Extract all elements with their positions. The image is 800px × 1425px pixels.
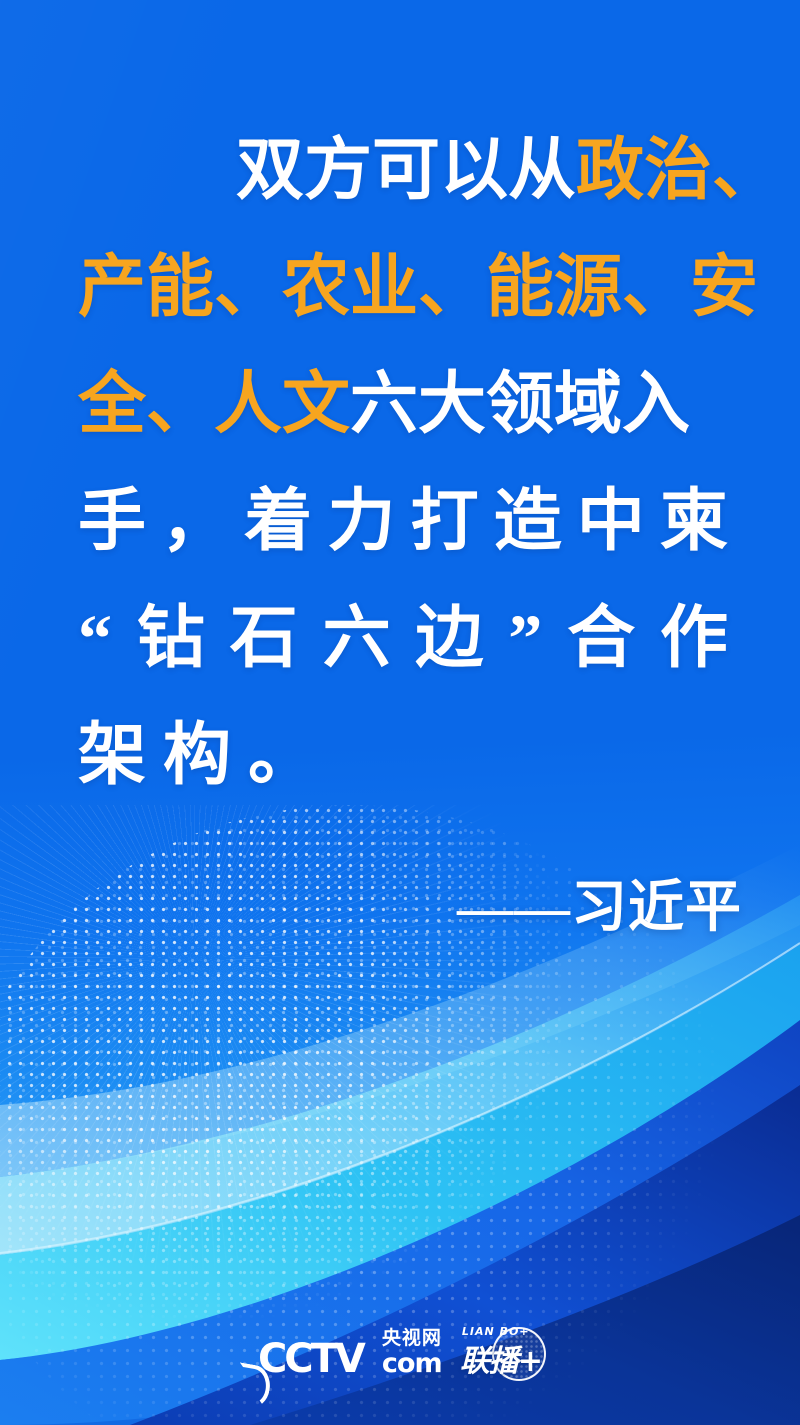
quote-char: 力 — [327, 463, 395, 580]
attribution-line: ——习近平 — [457, 862, 742, 943]
lianbo-logo[interactable]: LIAN BO+ 联播+ — [456, 1327, 542, 1379]
cctv-wordmark: CCTV — [258, 1341, 363, 1377]
quote-block: 双方可以从政治、 产能、农业、能源、安 全、人文六大领域入 手 ， 着 力 打 … — [78, 112, 728, 814]
quote-char: 造 — [494, 463, 562, 580]
quote-char: 石 — [230, 580, 298, 697]
quote-char: 着 — [244, 463, 312, 580]
quote-char: 六 — [323, 580, 391, 697]
cctv-domain-suffix: com — [382, 1350, 442, 1377]
cctv-logo[interactable]: CCTV 央视网 com — [258, 1329, 442, 1377]
quote-char: ” — [508, 580, 542, 697]
quote-char: “ — [78, 580, 112, 697]
quote-line-1-seg-1: 双方可以从 — [236, 132, 576, 208]
quote-char: 打 — [411, 463, 479, 580]
footer-logos: CCTV 央视网 com LIAN BO+ 联播+ — [0, 1327, 800, 1379]
quote-char: 边 — [415, 580, 483, 697]
quote-line-3-seg-2: 六大领域入 — [350, 366, 690, 442]
quote-char: 合 — [567, 580, 635, 697]
quote-char: 手 — [78, 463, 146, 580]
quote-char: 柬 — [660, 463, 728, 580]
quote-line-5: “ 钻 石 六 边 ” 合 作 — [78, 580, 728, 697]
cctv-chinese-block: 央视网 com — [382, 1329, 442, 1377]
cctv-chinese-name: 央视网 — [382, 1329, 442, 1348]
lianbo-chinese-label: 联播+ — [460, 1336, 542, 1380]
quote-char: 中 — [577, 463, 645, 580]
quote-line-6: 架 构 。 — [78, 697, 728, 814]
poster-canvas: 双方可以从政治、 产能、农业、能源、安 全、人文六大领域入 手 ， 着 力 打 … — [0, 0, 800, 1425]
quote-line-4: 手 ， 着 力 打 造 中 柬 — [78, 463, 728, 580]
quote-char: 作 — [660, 580, 728, 697]
quote-line-2-seg-1-highlight: 产能、农业、能源、安 — [78, 249, 758, 325]
quote-line-6-seg-1: 架 构 。 — [78, 717, 316, 793]
quote-char: 钻 — [137, 580, 205, 697]
quote-line-1: 双方可以从政治、 — [78, 112, 728, 229]
quote-line-1-seg-2-highlight: 政治、 — [576, 132, 780, 208]
quote-line-3-seg-1-highlight: 全、人文 — [78, 366, 350, 442]
quote-char: ， — [161, 463, 229, 580]
quote-line-3: 全、人文六大领域入 — [78, 346, 728, 463]
quote-line-2: 产能、农业、能源、安 — [78, 229, 728, 346]
